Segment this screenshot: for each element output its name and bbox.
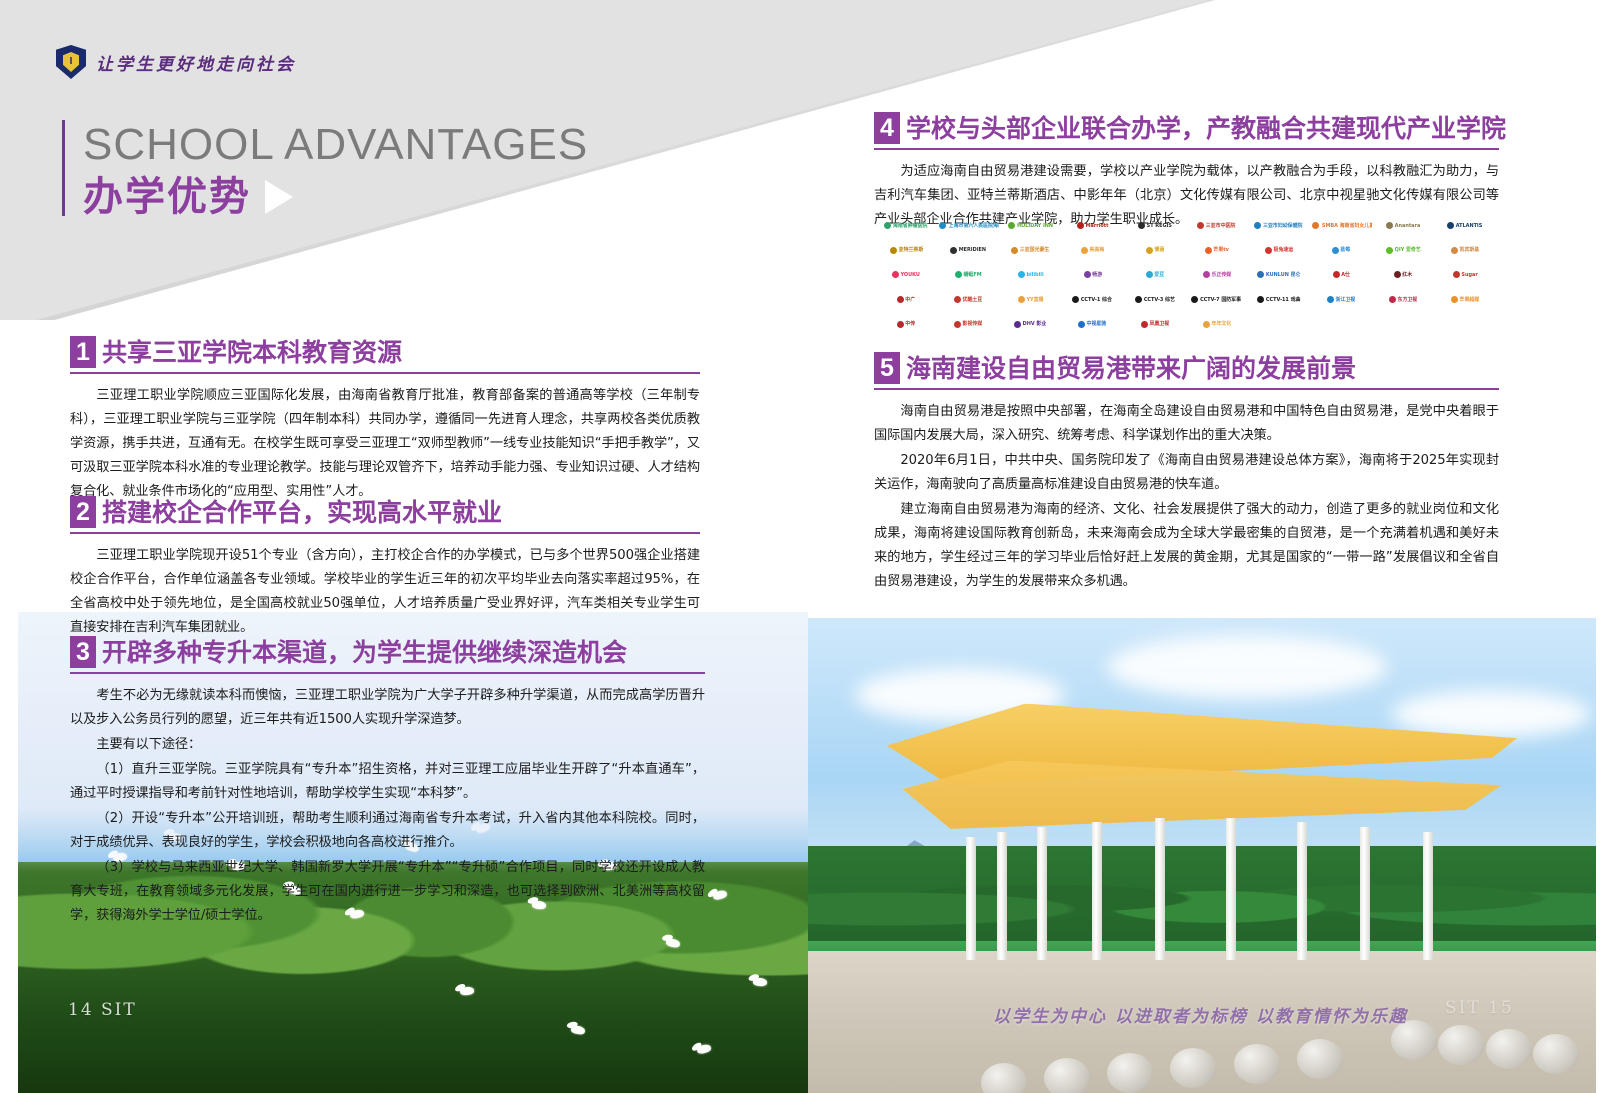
partner-logo: SMBA 海南省妇女儿童医学中心: [1311, 214, 1372, 238]
partner-logo-label: 东方卫视: [1397, 297, 1417, 303]
partner-logo: 凤凰卫视: [1124, 312, 1185, 336]
partner-logo-mark: [1146, 247, 1153, 254]
section-3: 3 开辟多种专升本渠道，为学生提供继续深造机会 考生不必为无缘就读本科而懊恼，三…: [70, 636, 705, 929]
partner-logo-mark: [1257, 271, 1264, 278]
partner-logo: Marriott: [1062, 214, 1123, 238]
partner-logo-mark: [1312, 222, 1319, 229]
pavilion-column: [966, 837, 976, 961]
partner-logo-mark: [1265, 247, 1272, 254]
partner-logo-label: 浙江卫视: [1335, 297, 1355, 303]
partner-logo: 海南省肿瘤医院: [876, 214, 937, 238]
partner-logo: 浙江卫视: [1311, 288, 1372, 312]
partner-logo: MERIDIEN: [938, 239, 999, 263]
pavilion-column: [1092, 822, 1102, 960]
partner-logo-label: Marriott: [1085, 223, 1108, 229]
partner-logo-mark: [1078, 321, 1085, 328]
partner-logo-mark: [1327, 296, 1334, 303]
partner-logo-label: 亚特兰蒂斯: [898, 248, 923, 254]
partner-logo-label: 畅游: [1092, 272, 1102, 278]
partner-logo-mark: [1203, 321, 1210, 328]
section-3-paragraph-4: （2）开设“专升本”公开培训班，帮助考生顺利通过海南省专升本考试，升入省内其他本…: [70, 807, 705, 855]
partner-logo-mark: [1203, 271, 1210, 278]
partner-logo-mark: [1197, 222, 1204, 229]
partner-logo: 影视传媒: [938, 312, 999, 336]
section-2: 2 搭建校企合作平台，实现高水平就业 三亚理工职业学院现开设51个专业（含方向）…: [70, 496, 700, 641]
section-5-paragraph-3: 建立海南自由贸易港为海南的经济、文化、社会发展提供了强大的动力，创造了更多的就业…: [874, 498, 1499, 594]
section-3-paragraph-2: 主要有以下途径：: [70, 733, 705, 757]
cloud-shape: [1391, 690, 1591, 738]
partner-logo-mark: [1394, 271, 1401, 278]
section-1-rule: [70, 372, 700, 374]
section-3-paragraph-5: （3）学校与马来西亚世纪大学、韩国新罗大学开展“专升本”“专升硕”合作项目，同时…: [70, 856, 705, 928]
partner-logo: 中传: [876, 312, 937, 336]
partner-logo: 年年文化: [1186, 312, 1247, 336]
partner-logo: 博涵: [1124, 239, 1185, 263]
partner-logo-mark: [939, 222, 946, 229]
stone-bollard: [1234, 1044, 1280, 1084]
partner-logo: 美高梅: [1062, 239, 1123, 263]
partner-logo: HOLIDAY INN: [1000, 214, 1061, 238]
egret-bird: [752, 977, 767, 986]
partner-logo-mark: [1205, 247, 1212, 254]
partner-logo-label: KUNLUN 昆仑: [1266, 272, 1301, 278]
partner-logo-label: 三亚国光豪生: [1020, 248, 1050, 254]
partner-logo-mark: [1081, 247, 1088, 254]
partner-logo: 蓝莓: [1311, 239, 1372, 263]
partner-logo-mark: [1332, 247, 1339, 254]
partner-logo-mark: [897, 321, 904, 328]
section-3-body: 考生不必为无缘就读本科而懊恼，三亚理工职业学院为广大学子开辟多种升学渠道，从而完…: [70, 684, 705, 928]
partner-logo-mark: [1333, 271, 1340, 278]
section-5-paragraph-2: 2020年6月1日，中共中央、国务院印发了《海南自由贸易港建设总体方案》，海南将…: [874, 449, 1499, 497]
partner-logo: Sugar: [1435, 263, 1496, 287]
partner-logo-mark: [1389, 296, 1396, 303]
section-5-paragraph-1: 海南自由贸易港是按照中央部署，在海南全岛建设自由贸易港和中国特色自由贸易港，是党…: [874, 400, 1499, 448]
partner-logo: Anantara: [1373, 214, 1434, 238]
section-3-head: 3 开辟多种专升本渠道，为学生提供继续深造机会: [70, 636, 705, 668]
partner-logo: 极兔速运: [1249, 239, 1310, 263]
partner-logo-mark: [1146, 271, 1153, 278]
section-2-rule: [70, 532, 700, 534]
partner-logo-label: YOUKU: [901, 272, 920, 278]
partner-logo-label: 美高梅: [1089, 248, 1104, 254]
play-triangle-icon: [265, 180, 293, 214]
section-5-number: 5: [874, 352, 900, 384]
section-1-head: 1 共享三亚学院本科教育资源: [70, 336, 700, 368]
partner-logo: 蜻蜓FM: [938, 263, 999, 287]
partner-logo-label: 三亚市中医院: [1206, 223, 1236, 229]
section-5-head: 5 海南建设自由贸易港带来广阔的发展前景: [874, 352, 1499, 384]
partner-logo-label: CCTV-1 综合: [1081, 297, 1112, 303]
partner-logo-label: SMBA 海南省妇女儿童医学中心: [1322, 223, 1372, 229]
partner-logo-mark: [1254, 222, 1261, 229]
pavilion-column: [1155, 818, 1165, 961]
partner-logo-label: 中视星驰: [1087, 321, 1107, 327]
partner-logo-mark: [892, 271, 899, 278]
partner-logo: bilibili: [1000, 263, 1061, 287]
partner-logo: 亚特兰蒂斯: [876, 239, 937, 263]
partner-logo-label: 凯宾斯基: [1460, 248, 1480, 254]
brochure-page: I 让学生更好地走向社会 SCHOOL ADVANTAGES 办学优势 1 共享…: [0, 0, 1600, 1093]
partner-logo: 芒果tv: [1186, 239, 1247, 263]
partner-logo-mark: [1084, 271, 1091, 278]
partner-logo-label: 蜻蜓FM: [964, 272, 982, 278]
partner-logo-label: 极兔速运: [1273, 248, 1293, 254]
partner-logo-label: YY直播: [1026, 297, 1043, 303]
partner-logo-label: ST REGIS: [1146, 223, 1171, 229]
partner-logo-mark: [1135, 296, 1142, 303]
partner-logo-mark: [1191, 296, 1198, 303]
partner-logo: QIY 爱奇艺: [1373, 239, 1434, 263]
partner-logo: 畅游: [1062, 263, 1123, 287]
section-1-paragraph: 三亚理工职业学院顺应三亚国际化发展，由海南省教育厅批准，教育部备案的普通高等学校…: [70, 384, 700, 504]
partner-logo-mark: [897, 296, 904, 303]
partner-logo-label: 芒果tv: [1213, 248, 1228, 254]
partner-logo: 三亚市妇幼保健院: [1249, 214, 1310, 238]
partner-logo: YY直播: [1000, 288, 1061, 312]
partner-logo: KUNLUN 昆仑: [1249, 263, 1310, 287]
partner-logo-mark: [1138, 222, 1145, 229]
partner-logo-label: 年年文化: [1211, 321, 1231, 327]
section-3-paragraph-1: 考生不必为无缘就读本科而懊恼，三亚理工职业学院为广大学子开辟多种升学渠道，从而完…: [70, 684, 705, 732]
partner-logo: 中广: [876, 288, 937, 312]
section-1: 1 共享三亚学院本科教育资源 三亚理工职业学院顺应三亚国际化发展，由海南省教育厅…: [70, 336, 700, 505]
partner-logo-label: 三亚市妇幼保健院: [1263, 223, 1302, 229]
section-4-head: 4 学校与头部企业联合办学，产教融合共建现代产业学院: [874, 112, 1499, 144]
stone-bollard: [1486, 1029, 1532, 1069]
section-3-number: 3: [70, 636, 96, 668]
partner-logo-label: CCTV-11 戏曲: [1266, 297, 1301, 303]
partner-logo-label: 影视传媒: [963, 321, 983, 327]
partner-logo: 凯宾斯基: [1435, 239, 1496, 263]
title-vertical-bar: [62, 120, 65, 216]
partner-logo-mark: [1072, 296, 1079, 303]
partner-logo-mark: [1451, 247, 1458, 254]
partner-logo: 中视星驰: [1062, 312, 1123, 336]
partner-logo-label: CCTV-3 综艺: [1143, 297, 1174, 303]
section-2-title: 搭建校企合作平台，实现高水平就业: [102, 498, 502, 528]
partner-logo: 三亚国光豪生: [1000, 239, 1061, 263]
page-title-english: SCHOOL ADVANTAGES: [83, 120, 588, 170]
partner-logo-label: A仕: [1341, 272, 1350, 278]
photo-right-forest: [808, 846, 1596, 951]
section-5-title: 海南建设自由贸易港带来广阔的发展前景: [906, 354, 1356, 384]
partner-logo-mark: [884, 222, 891, 229]
pavilion-column: [1037, 827, 1047, 960]
section-5-rule: [874, 388, 1499, 390]
partner-logo-mark: [954, 296, 961, 303]
section-4-rule: [874, 148, 1499, 150]
partner-logo-mark: [1453, 271, 1460, 278]
page-title-chinese: 办学优势: [83, 174, 251, 220]
brand-line: I 让学生更好地走向社会: [56, 45, 296, 79]
section-3-rule: [70, 672, 705, 674]
stone-bollard: [1297, 1039, 1343, 1079]
brand-tagline: 让学生更好地走向社会: [96, 50, 296, 75]
partner-logo-label: Sugar: [1461, 272, 1477, 278]
partner-logo: CCTV-11 戏曲: [1249, 288, 1310, 312]
pavilion-column: [1226, 818, 1236, 961]
shield-inner-icon: I: [63, 52, 79, 72]
partner-logo-label: MERIDIEN: [959, 248, 986, 254]
partner-logo-mark: [1257, 296, 1264, 303]
pavilion-column: [1297, 822, 1307, 960]
partner-logo-mark: [1018, 296, 1025, 303]
partner-logo-mark: [950, 247, 957, 254]
partner-logo-mark: [1011, 247, 1018, 254]
partner-logo-label: 爱豆: [1154, 272, 1164, 278]
partner-logo: CCTV-1 综合: [1062, 288, 1123, 312]
partner-logo-label: QIY 爱奇艺: [1394, 248, 1420, 254]
partner-logo-label: 红木: [1402, 272, 1412, 278]
section-3-title: 开辟多种专升本渠道，为学生提供继续深造机会: [102, 638, 627, 668]
partner-logo-mark: [1451, 296, 1458, 303]
partner-logo-label: bilibili: [1026, 272, 1043, 278]
section-5-body: 海南自由贸易港是按照中央部署，在海南全岛建设自由贸易港和中国特色自由贸易港，是党…: [874, 400, 1499, 594]
section-1-body: 三亚理工职业学院顺应三亚国际化发展，由海南省教育厅批准，教育部备案的普通高等学校…: [70, 384, 700, 504]
partner-logo: CCTV-7 国防军事: [1186, 288, 1247, 312]
partner-logo-label: ATLANTIS: [1456, 223, 1483, 229]
partner-logo: YOUKU: [876, 263, 937, 287]
section-2-number: 2: [70, 496, 96, 528]
pavilion-column: [997, 832, 1007, 960]
page-number-left: 14 SIT: [68, 1000, 137, 1020]
stone-bollard: [1533, 1034, 1579, 1074]
partner-logo-grid: 海南省肿瘤医院上海市第六人民医院海口医院HOLIDAY INNMarriottS…: [876, 214, 1496, 336]
partner-logo-mark: [1386, 247, 1393, 254]
stone-bollard: [1438, 1025, 1484, 1065]
campus-slogan: 以学生为中心 以进取者为标榜 以教育情怀为乐趣: [993, 1002, 1408, 1027]
section-2-head: 2 搭建校企合作平台，实现高水平就业: [70, 496, 700, 528]
partner-logo-mark: [1018, 271, 1025, 278]
partner-logo: 上海市第六人民医院海口医院: [938, 214, 999, 238]
partner-logo: 爱豆: [1124, 263, 1185, 287]
partner-logo: 红木: [1373, 263, 1434, 287]
partner-logo-label: CCTV-7 国防军事: [1201, 297, 1242, 303]
partner-logo-label: 中传: [906, 321, 916, 327]
partner-logo: CCTV-3 综艺: [1124, 288, 1185, 312]
partner-logo-label: HOLIDAY INN: [1017, 223, 1053, 229]
section-2-paragraph: 三亚理工职业学院现开设51个专业（含方向），主打校企合作的办学模式，已与多个世界…: [70, 544, 700, 640]
partner-logo-label: DHV 影业: [1023, 321, 1047, 327]
shield-crest-icon: I: [56, 45, 86, 79]
partner-logo-label: 芒果超媒: [1460, 297, 1480, 303]
pavilion-campus-photo: 以学生为中心 以进取者为标榜 以教育情怀为乐趣: [808, 618, 1596, 1093]
partner-logo-label: 乐正传媒: [1211, 272, 1231, 278]
partner-logo-mark: [1141, 321, 1148, 328]
page-title: SCHOOL ADVANTAGES 办学优势: [62, 120, 588, 220]
partner-logo-mark: [954, 321, 961, 328]
partner-logo-label: 博涵: [1154, 248, 1164, 254]
section-4-number: 4: [874, 112, 900, 144]
partner-logo: 三亚市中医院: [1186, 214, 1247, 238]
section-4-title: 学校与头部企业联合办学，产教融合共建现代产业学院: [906, 114, 1506, 144]
partner-logo-label: 凤凰卫视: [1149, 321, 1169, 327]
partner-logo-mark: [1077, 222, 1084, 229]
section-2-body: 三亚理工职业学院现开设51个专业（含方向），主打校企合作的办学模式，已与多个世界…: [70, 544, 700, 640]
partner-logo-mark: [1386, 222, 1393, 229]
section-5: 5 海南建设自由贸易港带来广阔的发展前景 海南自由贸易港是按照中央部署，在海南全…: [874, 352, 1499, 595]
partner-logo-label: Anantara: [1395, 223, 1421, 229]
partner-logo: 优酷土豆: [938, 288, 999, 312]
partner-logo: DHV 影业: [1000, 312, 1061, 336]
partner-logo-mark: [1008, 222, 1015, 229]
partner-logo-label: 蓝莓: [1340, 248, 1350, 254]
partner-logo: 东方卫视: [1373, 288, 1434, 312]
cloud-shape: [1107, 635, 1387, 699]
partner-logo-mark: [1014, 321, 1021, 328]
section-3-paragraph-3: （1）直升三亚学院。三亚学院具有“专升本”招生资格，并对三亚理工应届毕业生开辟了…: [70, 758, 705, 806]
pavilion-column: [1360, 827, 1370, 960]
section-1-title: 共享三亚学院本科教育资源: [102, 338, 402, 368]
partner-logo: A仕: [1311, 263, 1372, 287]
partner-logo-mark: [890, 247, 897, 254]
partner-logo: ST REGIS: [1124, 214, 1185, 238]
partner-logo-label: 上海市第六人民医院海口医院: [949, 223, 999, 229]
partner-logo-mark: [1447, 222, 1454, 229]
partner-logo: 芒果超媒: [1435, 288, 1496, 312]
partner-logo-label: 中广: [906, 297, 916, 303]
partner-logo-mark: [955, 271, 962, 278]
pavilion-column: [1423, 832, 1433, 960]
section-1-number: 1: [70, 336, 96, 368]
partner-logo: ATLANTIS: [1435, 214, 1496, 238]
page-number-right: SIT 15: [1445, 998, 1514, 1018]
partner-logo-label: 优酷土豆: [963, 297, 983, 303]
partner-logo-label: 海南省肿瘤医院: [893, 223, 928, 229]
partner-logo: 乐正传媒: [1186, 263, 1247, 287]
